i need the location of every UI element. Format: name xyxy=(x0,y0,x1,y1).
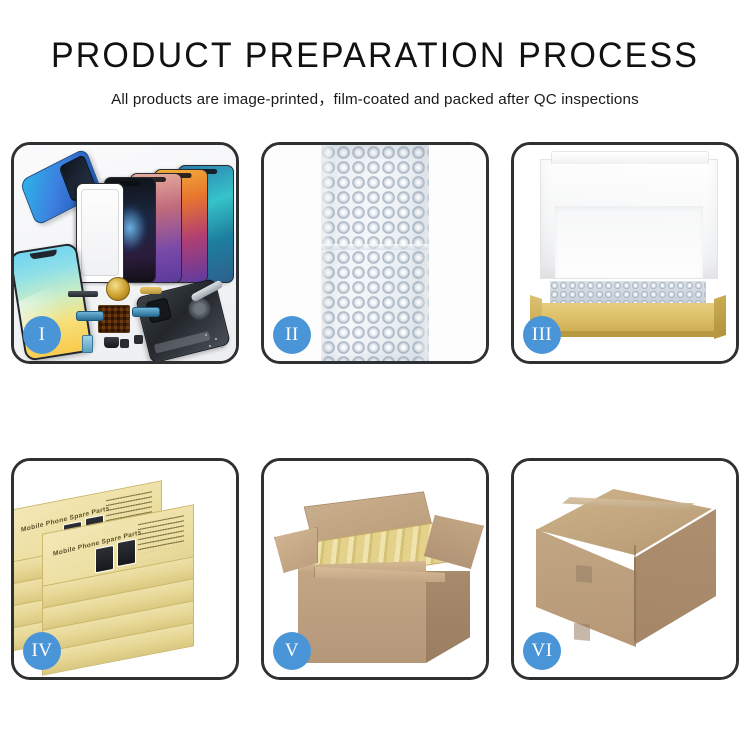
process-step-2[interactable]: II xyxy=(261,142,489,364)
header: PRODUCT PREPARATION PROCESS All products… xyxy=(0,0,750,109)
phone-screen-1 xyxy=(76,183,124,283)
page-title: PRODUCT PREPARATION PROCESS xyxy=(11,0,739,76)
phone-thumbnail-icon xyxy=(117,539,136,568)
tape-tab-icon xyxy=(574,623,590,641)
box-spec-lines xyxy=(138,515,184,554)
loudspeaker-part xyxy=(104,337,119,348)
phone-thumbnail-icon xyxy=(95,545,114,574)
process-step-3[interactable]: III xyxy=(511,142,739,364)
process-step-5[interactable]: V xyxy=(261,458,489,680)
process-step-1[interactable]: I xyxy=(11,142,239,364)
bubble-wrap-sheet xyxy=(321,145,429,361)
earpiece-mesh-part xyxy=(68,291,98,297)
process-grid: I II III Mobile Phone Spare Parts xyxy=(11,142,739,680)
step-badge-1: I xyxy=(23,316,61,354)
bubble-wrap-seam xyxy=(321,244,429,250)
step-badge-3: III xyxy=(523,316,561,354)
small-component-part xyxy=(134,335,143,344)
step-badge-2: II xyxy=(273,316,311,354)
page-subtitle: All products are image-printed，film-coat… xyxy=(0,76,750,109)
kraft-box-front-edge xyxy=(538,331,718,337)
speaker-coil-part xyxy=(106,277,130,301)
step-badge-5: V xyxy=(273,632,311,670)
phone-screen-fan xyxy=(74,155,236,283)
carton-corner-seam xyxy=(634,545,636,641)
tape-tab-icon xyxy=(576,565,592,583)
flex-cable-part xyxy=(132,307,160,317)
box-lid xyxy=(540,159,718,279)
screws-part xyxy=(202,331,228,351)
step-badge-4: IV xyxy=(23,632,61,670)
phone-notch-icon xyxy=(120,181,140,186)
gold-connector-part xyxy=(140,287,162,294)
process-step-6[interactable]: VI xyxy=(511,458,739,680)
screen-glass xyxy=(81,189,119,276)
battery-connector-part xyxy=(82,335,93,353)
step-badge-6: VI xyxy=(523,632,561,670)
flex-cable-part xyxy=(76,311,104,321)
carton-front-face xyxy=(298,571,426,663)
process-step-4[interactable]: Mobile Phone Spare Parts Mobile Phone Sp… xyxy=(11,458,239,680)
small-component-part xyxy=(120,339,129,348)
